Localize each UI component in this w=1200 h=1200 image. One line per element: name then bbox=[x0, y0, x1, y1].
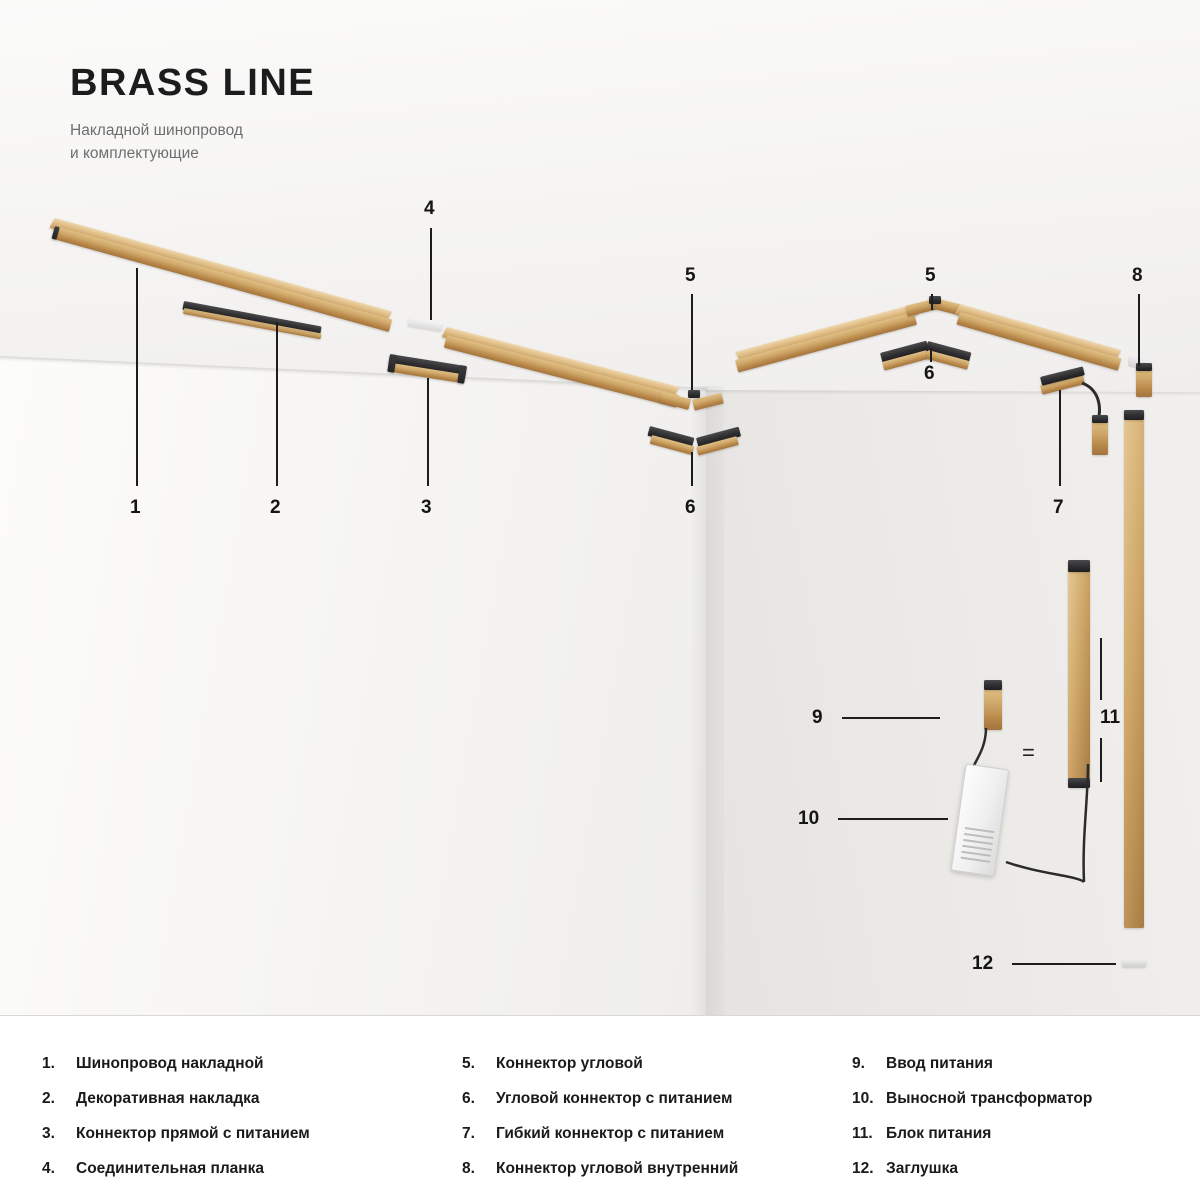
callout-number-3: 3 bbox=[421, 497, 432, 519]
leader-line-2 bbox=[276, 322, 278, 486]
legend-item-2: 2. Декоративная накладка bbox=[42, 1090, 462, 1108]
leader-line-7 bbox=[1059, 390, 1061, 486]
leader-line-11b bbox=[1100, 738, 1102, 782]
legend-number-8: 8. bbox=[462, 1160, 496, 1178]
page-title: BRASS LINE bbox=[70, 62, 315, 105]
part-flexible-power-connector-7 bbox=[1040, 375, 1130, 475]
transformer-cable-down-icon bbox=[1060, 760, 1120, 890]
legend-item-5: 5. Коннектор угловой bbox=[462, 1055, 852, 1073]
leader-line-6b bbox=[930, 348, 932, 362]
callout-number-10: 10 bbox=[798, 808, 819, 830]
callout-number-6a: 6 bbox=[685, 497, 696, 519]
callout-number-12: 12 bbox=[972, 953, 993, 975]
legend-number-12: 12. bbox=[852, 1160, 886, 1178]
legend-number-5: 5. bbox=[462, 1055, 496, 1073]
part-corner-connector-5b bbox=[905, 292, 965, 324]
legend-label-1: Шинопровод накладной bbox=[76, 1055, 264, 1073]
leader-line-5b bbox=[931, 294, 933, 310]
leader-line-5a bbox=[691, 294, 693, 390]
legend-item-11: 11. Блок питания bbox=[852, 1125, 1172, 1143]
legend-number-1: 1. bbox=[42, 1055, 76, 1073]
legend-number-7: 7. bbox=[462, 1125, 496, 1143]
legend-item-6: 6. Угловой коннектор с питанием bbox=[462, 1090, 852, 1108]
callout-number-7: 7 bbox=[1053, 497, 1064, 519]
legend-item-12: 12. Заглушка bbox=[852, 1160, 1172, 1178]
part-corner-connector-5a bbox=[662, 386, 722, 418]
part-inner-corner-connector-8 bbox=[1128, 355, 1178, 415]
legend-item-9: 9. Ввод питания bbox=[852, 1055, 1172, 1073]
page-subtitle-line1: Накладной шинопровод bbox=[70, 122, 243, 139]
legend-label-7: Гибкий коннектор с питанием bbox=[496, 1125, 724, 1143]
legend-label-3: Коннектор прямой с питанием bbox=[76, 1125, 310, 1143]
leader-line-12 bbox=[1012, 963, 1116, 965]
callout-number-8: 8 bbox=[1132, 265, 1143, 287]
callout-number-11: 11 bbox=[1100, 707, 1120, 729]
legend-number-3: 3. bbox=[42, 1125, 76, 1143]
product-scene-illustration: BRASS LINE Накладной шинопровод и компле… bbox=[0, 0, 1200, 1015]
equals-sign: = bbox=[1022, 740, 1035, 766]
legend-label-6: Угловой коннектор с питанием bbox=[496, 1090, 732, 1108]
part-corner-power-connector-6a bbox=[650, 420, 740, 470]
legend-number-4: 4. bbox=[42, 1160, 76, 1178]
callout-number-4: 4 bbox=[424, 198, 435, 220]
wall-corner-shading bbox=[690, 386, 724, 1015]
legend-label-9: Ввод питания bbox=[886, 1055, 993, 1073]
leader-line-10 bbox=[838, 818, 948, 820]
leader-line-4 bbox=[430, 228, 432, 320]
legend-label-4: Соединительная планка bbox=[76, 1160, 264, 1178]
part-decorative-cover-2 bbox=[184, 295, 334, 345]
legend-item-4: 4. Соединительная планка bbox=[42, 1160, 462, 1178]
legend-item-1: 1. Шинопровод накладной bbox=[42, 1055, 462, 1073]
title-block: BRASS LINE Накладной шинопровод и компле… bbox=[70, 62, 315, 166]
legend-item-3: 3. Коннектор прямой с питанием bbox=[42, 1125, 462, 1143]
legend-number-2: 2. bbox=[42, 1090, 76, 1108]
callout-number-6b: 6 bbox=[924, 363, 935, 385]
legend-panel: 1. Шинопровод накладной 5. Коннектор угл… bbox=[0, 1015, 1200, 1200]
leader-line-8 bbox=[1138, 294, 1140, 366]
legend-label-10: Выносной трансформатор bbox=[886, 1090, 1092, 1108]
legend-item-8: 8. Коннектор угловой внутренний bbox=[462, 1160, 852, 1178]
flex-cable-icon bbox=[1040, 375, 1130, 475]
part-end-cap-12 bbox=[1122, 955, 1148, 971]
legend-grid: 1. Шинопровод накладной 5. Коннектор угл… bbox=[42, 1046, 1172, 1186]
page-subtitle-line2: и комплектующие bbox=[70, 145, 199, 162]
part-track-rail-to-inner-corner bbox=[960, 302, 1145, 382]
leader-line-6a bbox=[691, 452, 693, 486]
legend-number-11: 11. bbox=[852, 1125, 886, 1143]
legend-label-8: Коннектор угловой внутренний bbox=[496, 1160, 738, 1178]
leader-line-9 bbox=[842, 717, 940, 719]
legend-number-10: 10. bbox=[852, 1090, 886, 1108]
callout-number-2: 2 bbox=[270, 497, 281, 519]
callout-number-1: 1 bbox=[130, 497, 141, 519]
callout-number-5a: 5 bbox=[685, 265, 696, 287]
legend-number-9: 9. bbox=[852, 1055, 886, 1073]
legend-label-11: Блок питания bbox=[886, 1125, 991, 1143]
legend-item-7: 7. Гибкий коннектор с питанием bbox=[462, 1125, 852, 1143]
legend-label-5: Коннектор угловой bbox=[496, 1055, 643, 1073]
part-power-supply-block-11 bbox=[1068, 560, 1098, 790]
callout-number-9: 9 bbox=[812, 707, 823, 729]
legend-label-12: Заглушка bbox=[886, 1160, 958, 1178]
leader-line-1 bbox=[136, 268, 138, 486]
callout-number-5b: 5 bbox=[925, 265, 936, 287]
legend-number-6: 6. bbox=[462, 1090, 496, 1108]
legend-item-10: 10. Выносной трансформатор bbox=[852, 1090, 1172, 1108]
leader-line-11 bbox=[1100, 638, 1102, 700]
leader-line-3 bbox=[427, 378, 429, 486]
legend-label-2: Декоративная накладка bbox=[76, 1090, 260, 1108]
page-subtitle: Накладной шинопровод и комплектующие bbox=[70, 119, 315, 166]
